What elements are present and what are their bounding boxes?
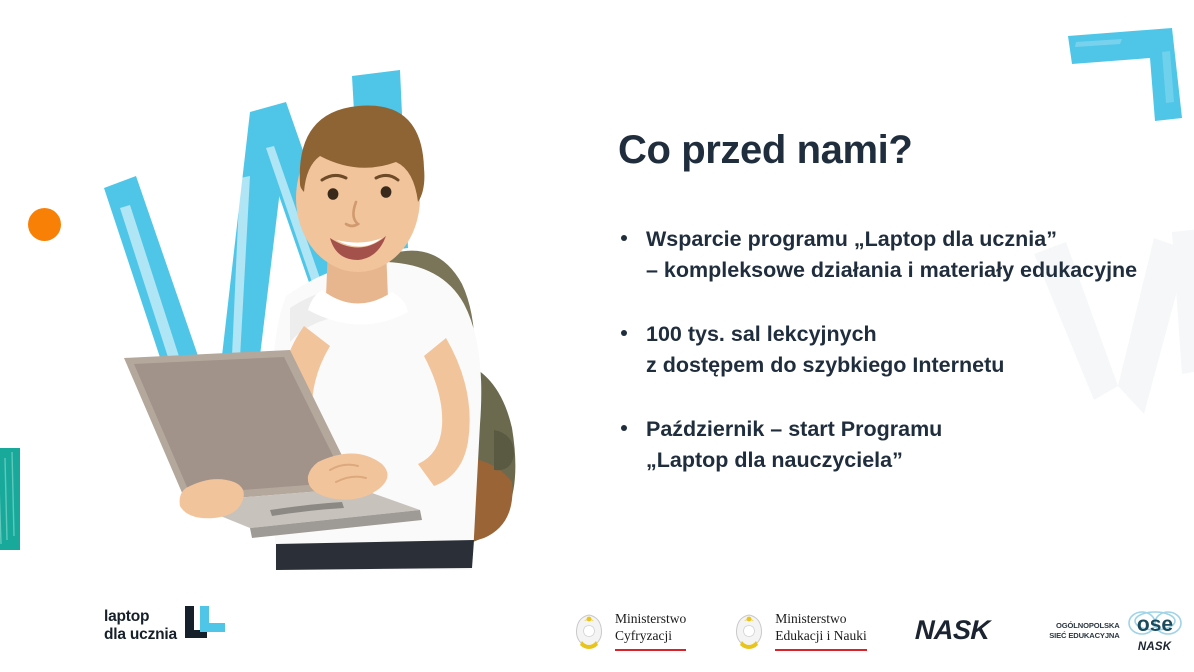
list-item-line1: 100 tys. sal lekcyjnych <box>646 322 877 346</box>
polish-eagle-icon <box>572 611 606 651</box>
bullet-list: Wsparcie programu „Laptop dla ucznia” – … <box>618 224 1194 475</box>
list-item: 100 tys. sal lekcyjnych z dostępem do sz… <box>618 319 1194 380</box>
ministry-line2: Cyfryzacji <box>615 627 686 644</box>
content-column: Co przed nami? Wsparcie programu „Laptop… <box>618 128 1194 475</box>
teal-bar-shape-icon <box>0 448 20 550</box>
list-item-line2: z dostępem do szybkiego Internetu <box>646 350 1194 381</box>
bullet-dot-icon <box>621 235 627 241</box>
ministerstwo-cyfryzacji-text: Ministerstwo Cyfryzacji <box>615 610 686 651</box>
ministry-red-rule <box>775 649 866 652</box>
nask-wordmark: NASK <box>914 615 990 646</box>
laptop-dla-ucznia-logo: laptop dla ucznia <box>104 604 227 647</box>
laptop-logo-text: laptop dla ucznia <box>104 608 177 644</box>
bullet-dot-icon <box>621 330 627 336</box>
list-item-line1: Wsparcie programu „Laptop dla ucznia” <box>646 227 1057 251</box>
ministry-red-rule <box>615 649 686 652</box>
ministry-line2: Edukacji i Nauki <box>775 627 866 644</box>
nask-logo: NASK <box>915 615 990 646</box>
laptop-logo-line2: dla ucznia <box>104 626 177 644</box>
ose-mark-text: ose <box>1137 613 1173 636</box>
cyan-corner-shape-icon <box>1062 22 1194 126</box>
ose-caption-line1: OGÓLNOPOLSKA <box>1049 621 1119 631</box>
ministerstwo-edukacji-i-nauki-logo: Ministerstwo Edukacji i Nauki <box>732 610 866 651</box>
ministry-line1: Ministerstwo <box>615 610 686 627</box>
student-photo: Chłopiec z laptopem i plecakiem <box>90 58 582 570</box>
footer-logos: Ministerstwo Cyfryzacji Ministerstwo Edu… <box>572 608 1132 653</box>
list-item-line2: „Laptop dla nauczyciela” <box>646 445 1194 476</box>
laptop-logo-mark-icon <box>183 604 227 647</box>
ose-nask-sub: NASK <box>1127 641 1183 653</box>
orange-dot-shape-icon <box>28 208 61 241</box>
list-item-line1: Październik – start Programu <box>646 417 942 441</box>
ministerstwo-cyfryzacji-logo: Ministerstwo Cyfryzacji <box>572 610 686 651</box>
ministry-line1: Ministerstwo <box>775 610 866 627</box>
ose-mark-icon: ose <box>1127 608 1183 638</box>
ose-caption: OGÓLNOPOLSKA SIEĆ EDUKACYJNA <box>1049 621 1119 641</box>
polish-eagle-icon <box>732 611 766 651</box>
slide: Chłopiec z laptopem i plecakiem <box>0 0 1194 672</box>
list-item: Wsparcie programu „Laptop dla ucznia” – … <box>618 224 1194 285</box>
ose-mark-wrap: ose NASK <box>1127 608 1183 653</box>
ministerstwo-edukacji-text: Ministerstwo Edukacji i Nauki <box>775 610 866 651</box>
ose-caption-line2: SIEĆ EDUKACYJNA <box>1049 631 1119 641</box>
bullet-dot-icon <box>621 425 627 431</box>
list-item: Październik – start Programu „Laptop dla… <box>618 414 1194 475</box>
ose-logo: OGÓLNOPOLSKA SIEĆ EDUKACYJNA ose NASK <box>1049 608 1182 653</box>
laptop-logo-line1: laptop <box>104 608 177 626</box>
page-title: Co przed nami? <box>618 128 1194 172</box>
list-item-line2: – kompleksowe działania i materiały eduk… <box>646 255 1194 286</box>
